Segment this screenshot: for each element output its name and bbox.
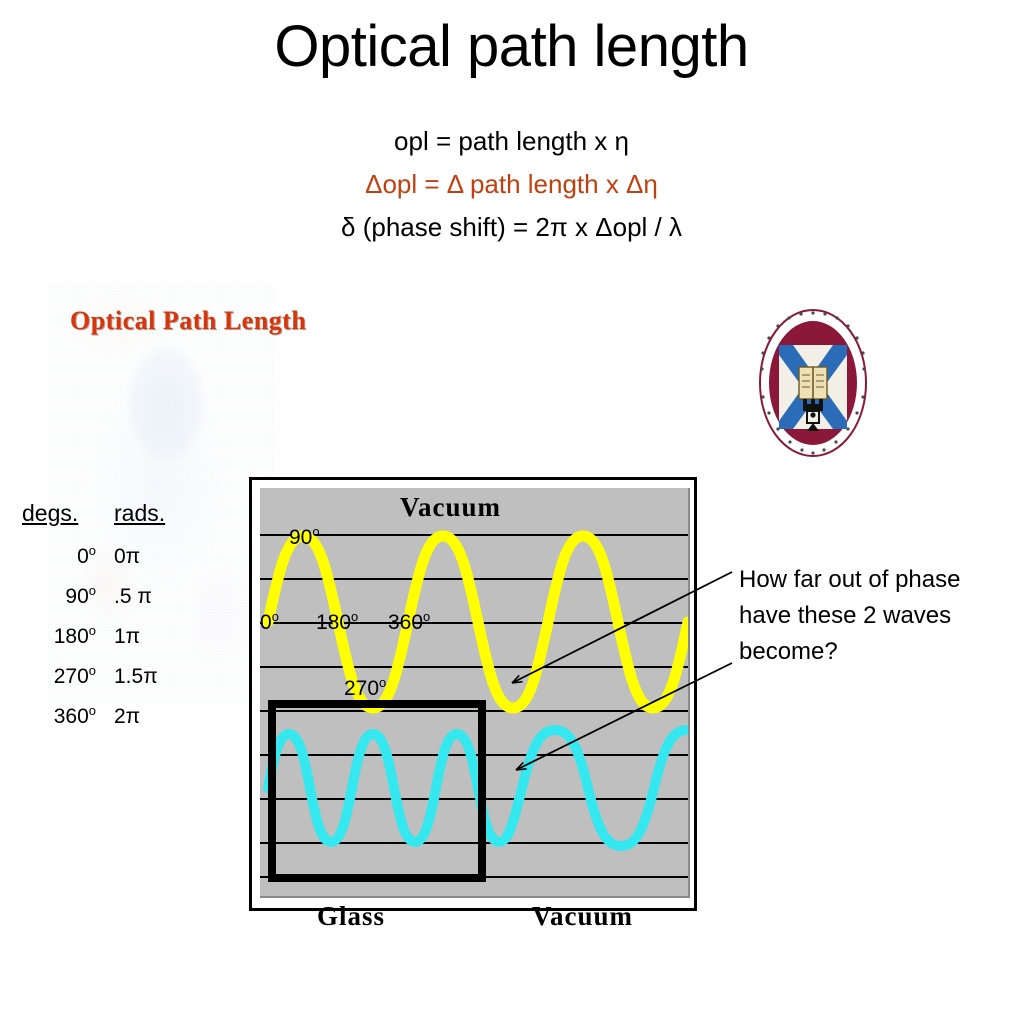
cell-degrees: 270o bbox=[22, 663, 114, 689]
cell-radians: 1.5π bbox=[114, 665, 204, 689]
table-row: 180o 1π bbox=[22, 623, 204, 663]
annotation-270-degrees: 270o bbox=[344, 675, 386, 701]
cell-radians: 2π bbox=[114, 705, 204, 729]
diagram-bottom-labels: Glass Vacuum bbox=[249, 893, 697, 937]
diagram-panel: Vacuum 90o 0o 180o 360o 270o bbox=[260, 488, 690, 898]
annotation-360-degrees: 360o bbox=[388, 609, 430, 635]
column-header-degrees: degs. bbox=[22, 500, 114, 527]
university-crest-icon bbox=[757, 305, 869, 461]
annotation-180-degrees: 180o bbox=[316, 609, 358, 635]
table-row: 0o 0π bbox=[22, 543, 204, 583]
question-annotation: How far out of phase have these 2 waves … bbox=[739, 562, 994, 670]
formula-line-opl: opl = path length x η bbox=[0, 120, 1023, 163]
table-row: 360o 2π bbox=[22, 703, 204, 743]
degrees-radians-table: degs. rads. 0o 0π 90o .5 π 180o 1π 270o … bbox=[22, 500, 204, 743]
label-glass: Glass bbox=[317, 901, 385, 932]
table-row: 270o 1.5π bbox=[22, 663, 204, 703]
cell-radians: 1π bbox=[114, 625, 204, 649]
label-vacuum-top: Vacuum bbox=[400, 492, 501, 523]
annotation-90-degrees: 90o bbox=[289, 524, 320, 550]
cell-degrees: 360o bbox=[22, 703, 114, 729]
column-header-radians: rads. bbox=[114, 500, 204, 527]
annotation-0-degrees: 0o bbox=[260, 609, 279, 635]
formula-line-delta-opl: Δopl = Δ path length x Δη bbox=[0, 163, 1023, 206]
table-header-row: degs. rads. bbox=[22, 500, 204, 527]
formula-block: opl = path length x η Δopl = Δ path leng… bbox=[0, 120, 1023, 249]
table-row: 90o .5 π bbox=[22, 583, 204, 623]
glass-slab-box bbox=[268, 700, 486, 882]
cell-degrees: 180o bbox=[22, 623, 114, 649]
cell-radians: .5 π bbox=[114, 585, 204, 609]
cell-radians: 0π bbox=[114, 545, 204, 569]
formula-line-phase-shift: δ (phase shift) = 2π x Δopl / λ bbox=[0, 206, 1023, 249]
cell-degrees: 0o bbox=[22, 543, 114, 569]
cell-degrees: 90o bbox=[22, 583, 114, 609]
wave-diagram: Vacuum 90o 0o 180o 360o 270o bbox=[249, 477, 697, 911]
page-title: Optical path length bbox=[0, 12, 1023, 82]
label-vacuum-bottom: Vacuum bbox=[532, 901, 633, 932]
section-heading-optical-path-length: Optical Path Length bbox=[70, 306, 306, 336]
